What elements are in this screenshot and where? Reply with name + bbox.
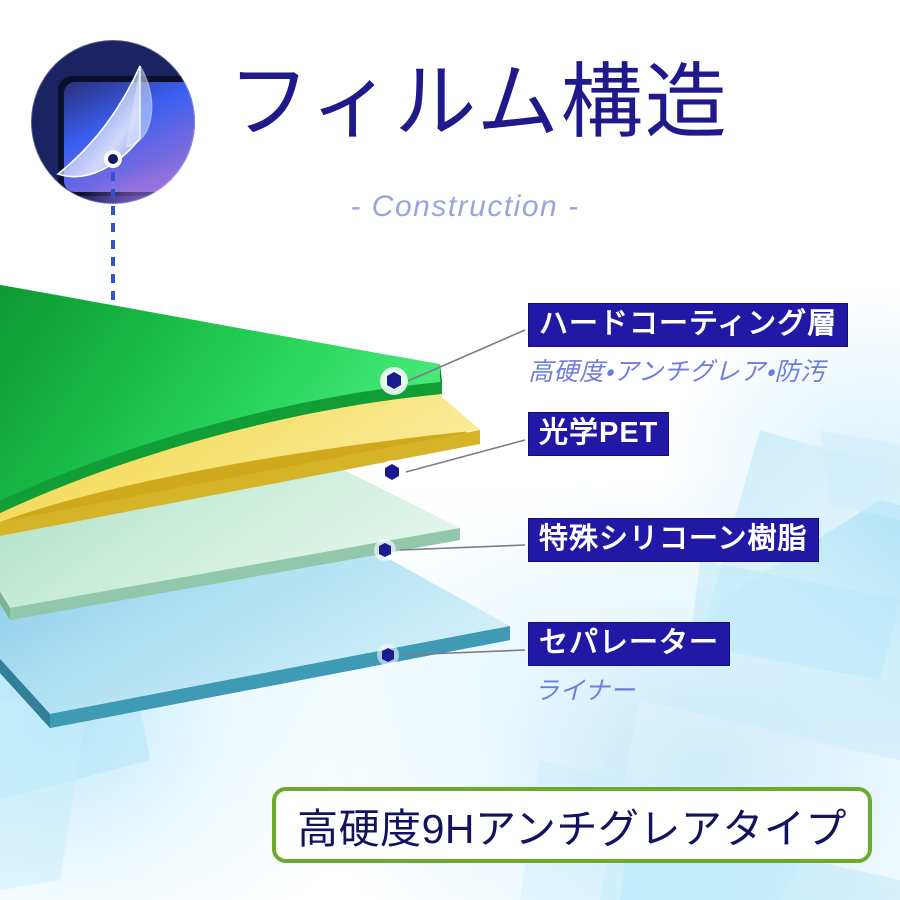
layer-stack-illustration (0, 268, 550, 828)
callout-separator: セパレーター ライナー (528, 622, 730, 707)
callout-label-optical-pet: 光学PET (528, 412, 669, 456)
callout-optical-pet: 光学PET (528, 412, 669, 456)
product-type-banner: 高硬度9Hアンチグレアタイプ (272, 787, 872, 863)
callout-hard-coat: ハードコーティング層 高硬度・アンチグレア・防汚 (528, 303, 848, 388)
callout-sub-separator: ライナー (534, 671, 730, 707)
screen-protector-film-peel-icon (28, 34, 206, 234)
product-type-banner-text: 高硬度9Hアンチグレアタイプ (297, 795, 847, 855)
page-title: フィルム構造 (228, 62, 708, 144)
callout-label-hard-coat: ハードコーティング層 (528, 303, 848, 347)
callout-sub-hard-coat: 高硬度・アンチグレア・防汚 (528, 352, 848, 388)
page-subtitle: - Construction - (300, 190, 630, 224)
film-construction-infographic: フィルム構造 - Construction - (0, 0, 900, 900)
callout-label-silicone: 特殊シリコーン樹脂 (528, 518, 819, 562)
callout-silicone: 特殊シリコーン樹脂 (528, 518, 819, 562)
callout-label-separator: セパレーター (528, 622, 730, 666)
badge (28, 34, 206, 234)
